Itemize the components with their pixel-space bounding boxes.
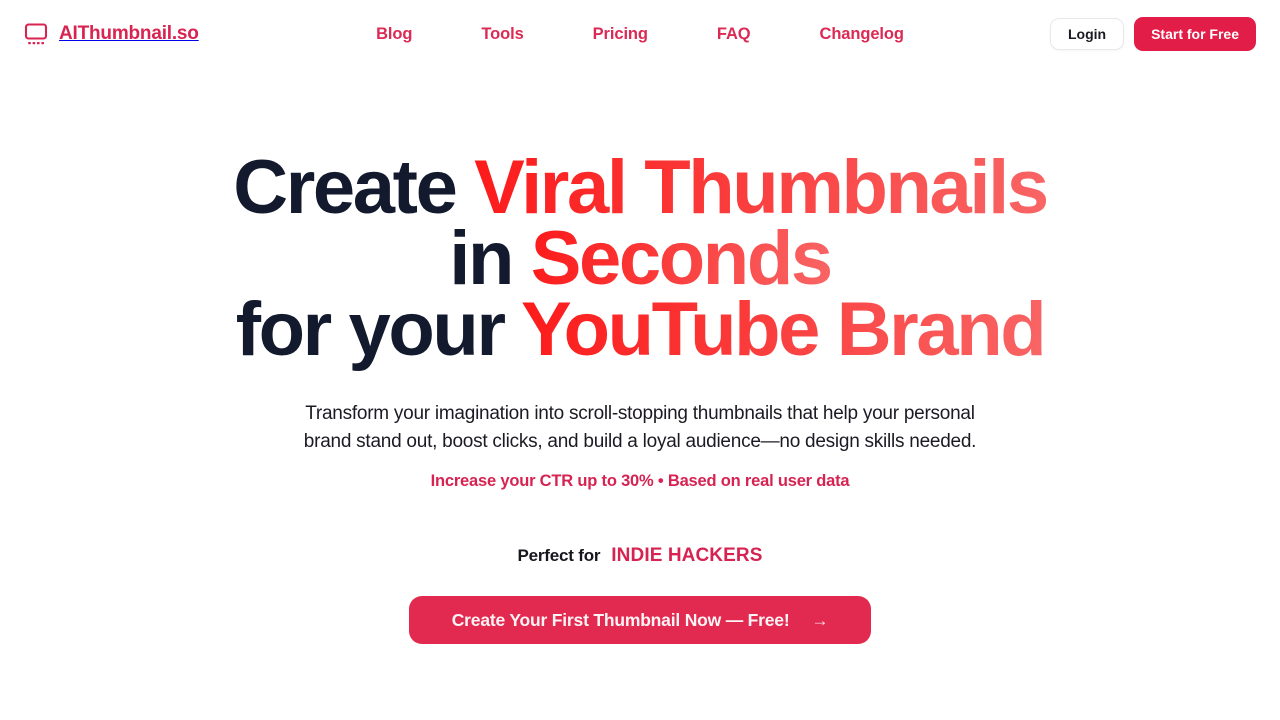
nav-item-pricing[interactable]: Pricing xyxy=(593,25,648,44)
headline-line-3: for your YouTube Brand xyxy=(0,294,1280,365)
audience-label: Perfect for xyxy=(517,546,600,566)
arrow-right-icon: → xyxy=(811,612,828,629)
cta-container: Create Your First Thumbnail Now — Free! … xyxy=(0,596,1280,644)
create-first-thumbnail-button[interactable]: Create Your First Thumbnail Now — Free! … xyxy=(409,596,871,644)
site-header: AIThumbnail.so Blog Tools Pricing FAQ Ch… xyxy=(0,0,1280,68)
monitor-icon xyxy=(24,23,48,45)
ctr-highlight-text: Increase your CTR up to 30% • Based on r… xyxy=(0,472,1280,491)
nav-item-changelog[interactable]: Changelog xyxy=(820,25,904,44)
hero-subheading-line-1: Transform your imagination into scroll-s… xyxy=(0,400,1280,428)
audience-value: INDIE HACKERS xyxy=(611,545,762,567)
headline-line-1-dark: Create xyxy=(233,145,474,230)
hero-subheading: Transform your imagination into scroll-s… xyxy=(0,400,1280,456)
headline-line-2: in Seconds xyxy=(0,223,1280,294)
hero-subheading-line-2: brand stand out, boost clicks, and build… xyxy=(0,428,1280,456)
nav-item-tools[interactable]: Tools xyxy=(481,25,523,44)
cta-label: Create Your First Thumbnail Now — Free! xyxy=(452,610,790,631)
audience-row: Perfect for INDIE HACKERS xyxy=(0,545,1280,567)
header-actions: Login Start for Free xyxy=(1050,17,1256,51)
page-title: Create Viral Thumbnails in Seconds for y… xyxy=(0,152,1280,365)
brand-logo[interactable]: AIThumbnail.so xyxy=(24,23,199,45)
start-for-free-button[interactable]: Start for Free xyxy=(1134,17,1256,51)
hero-section: Create Viral Thumbnails in Seconds for y… xyxy=(0,68,1280,644)
nav-item-blog[interactable]: Blog xyxy=(376,25,412,44)
headline-line-3-accent: YouTube Brand xyxy=(521,287,1044,372)
brand-name: AIThumbnail.so xyxy=(59,23,199,45)
headline-line-3-dark: for your xyxy=(236,287,521,372)
login-button[interactable]: Login xyxy=(1050,18,1124,50)
nav-item-faq[interactable]: FAQ xyxy=(717,25,751,44)
headline-line-1: Create Viral Thumbnails xyxy=(0,152,1280,223)
